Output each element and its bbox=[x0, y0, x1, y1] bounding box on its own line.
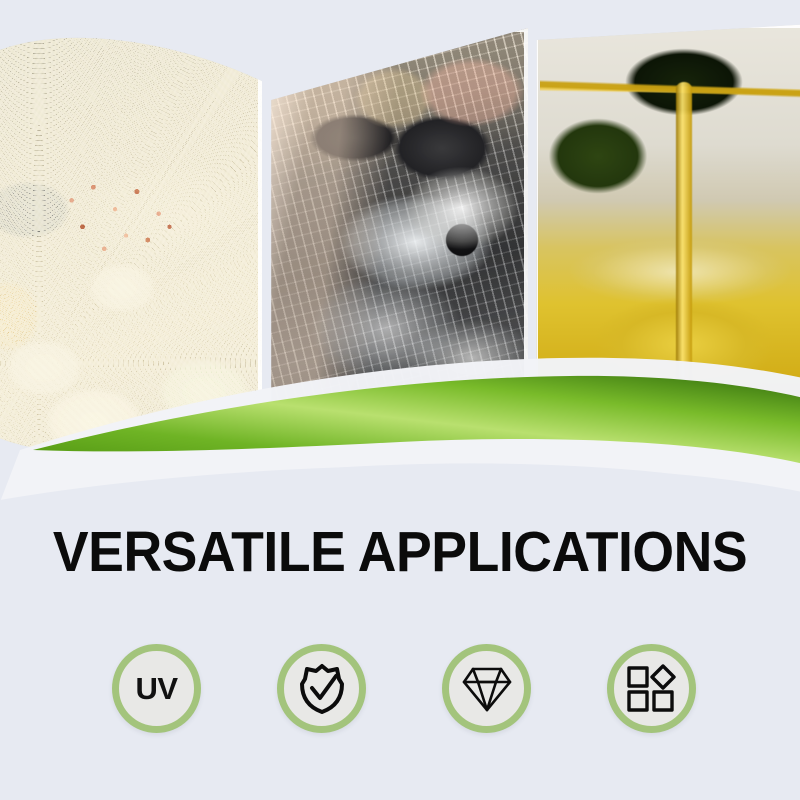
legumes-panel bbox=[0, 20, 262, 460]
grid-squares-icon bbox=[626, 664, 678, 714]
diamond-gem-icon bbox=[460, 664, 514, 714]
page-title: VERSATILE APPLICATIONS bbox=[24, 524, 776, 581]
badge-applications[interactable] bbox=[607, 644, 696, 733]
badge-uv[interactable]: UV bbox=[112, 644, 201, 733]
olive-oil-photo bbox=[534, 24, 800, 424]
uv-text-icon: UV bbox=[135, 673, 177, 704]
legumes-photo bbox=[0, 20, 262, 460]
image-collage bbox=[0, 0, 800, 470]
product-feature-banner: VERSATILE APPLICATIONS UV bbox=[0, 0, 800, 800]
shield-check-icon bbox=[297, 662, 347, 716]
badge-quality[interactable] bbox=[442, 644, 531, 733]
feature-badge-row: UV bbox=[0, 644, 800, 733]
dishrack-photo bbox=[266, 28, 528, 428]
badge-protection[interactable] bbox=[277, 644, 366, 733]
olive-oil-panel bbox=[534, 24, 800, 424]
dishrack-panel bbox=[266, 28, 528, 428]
